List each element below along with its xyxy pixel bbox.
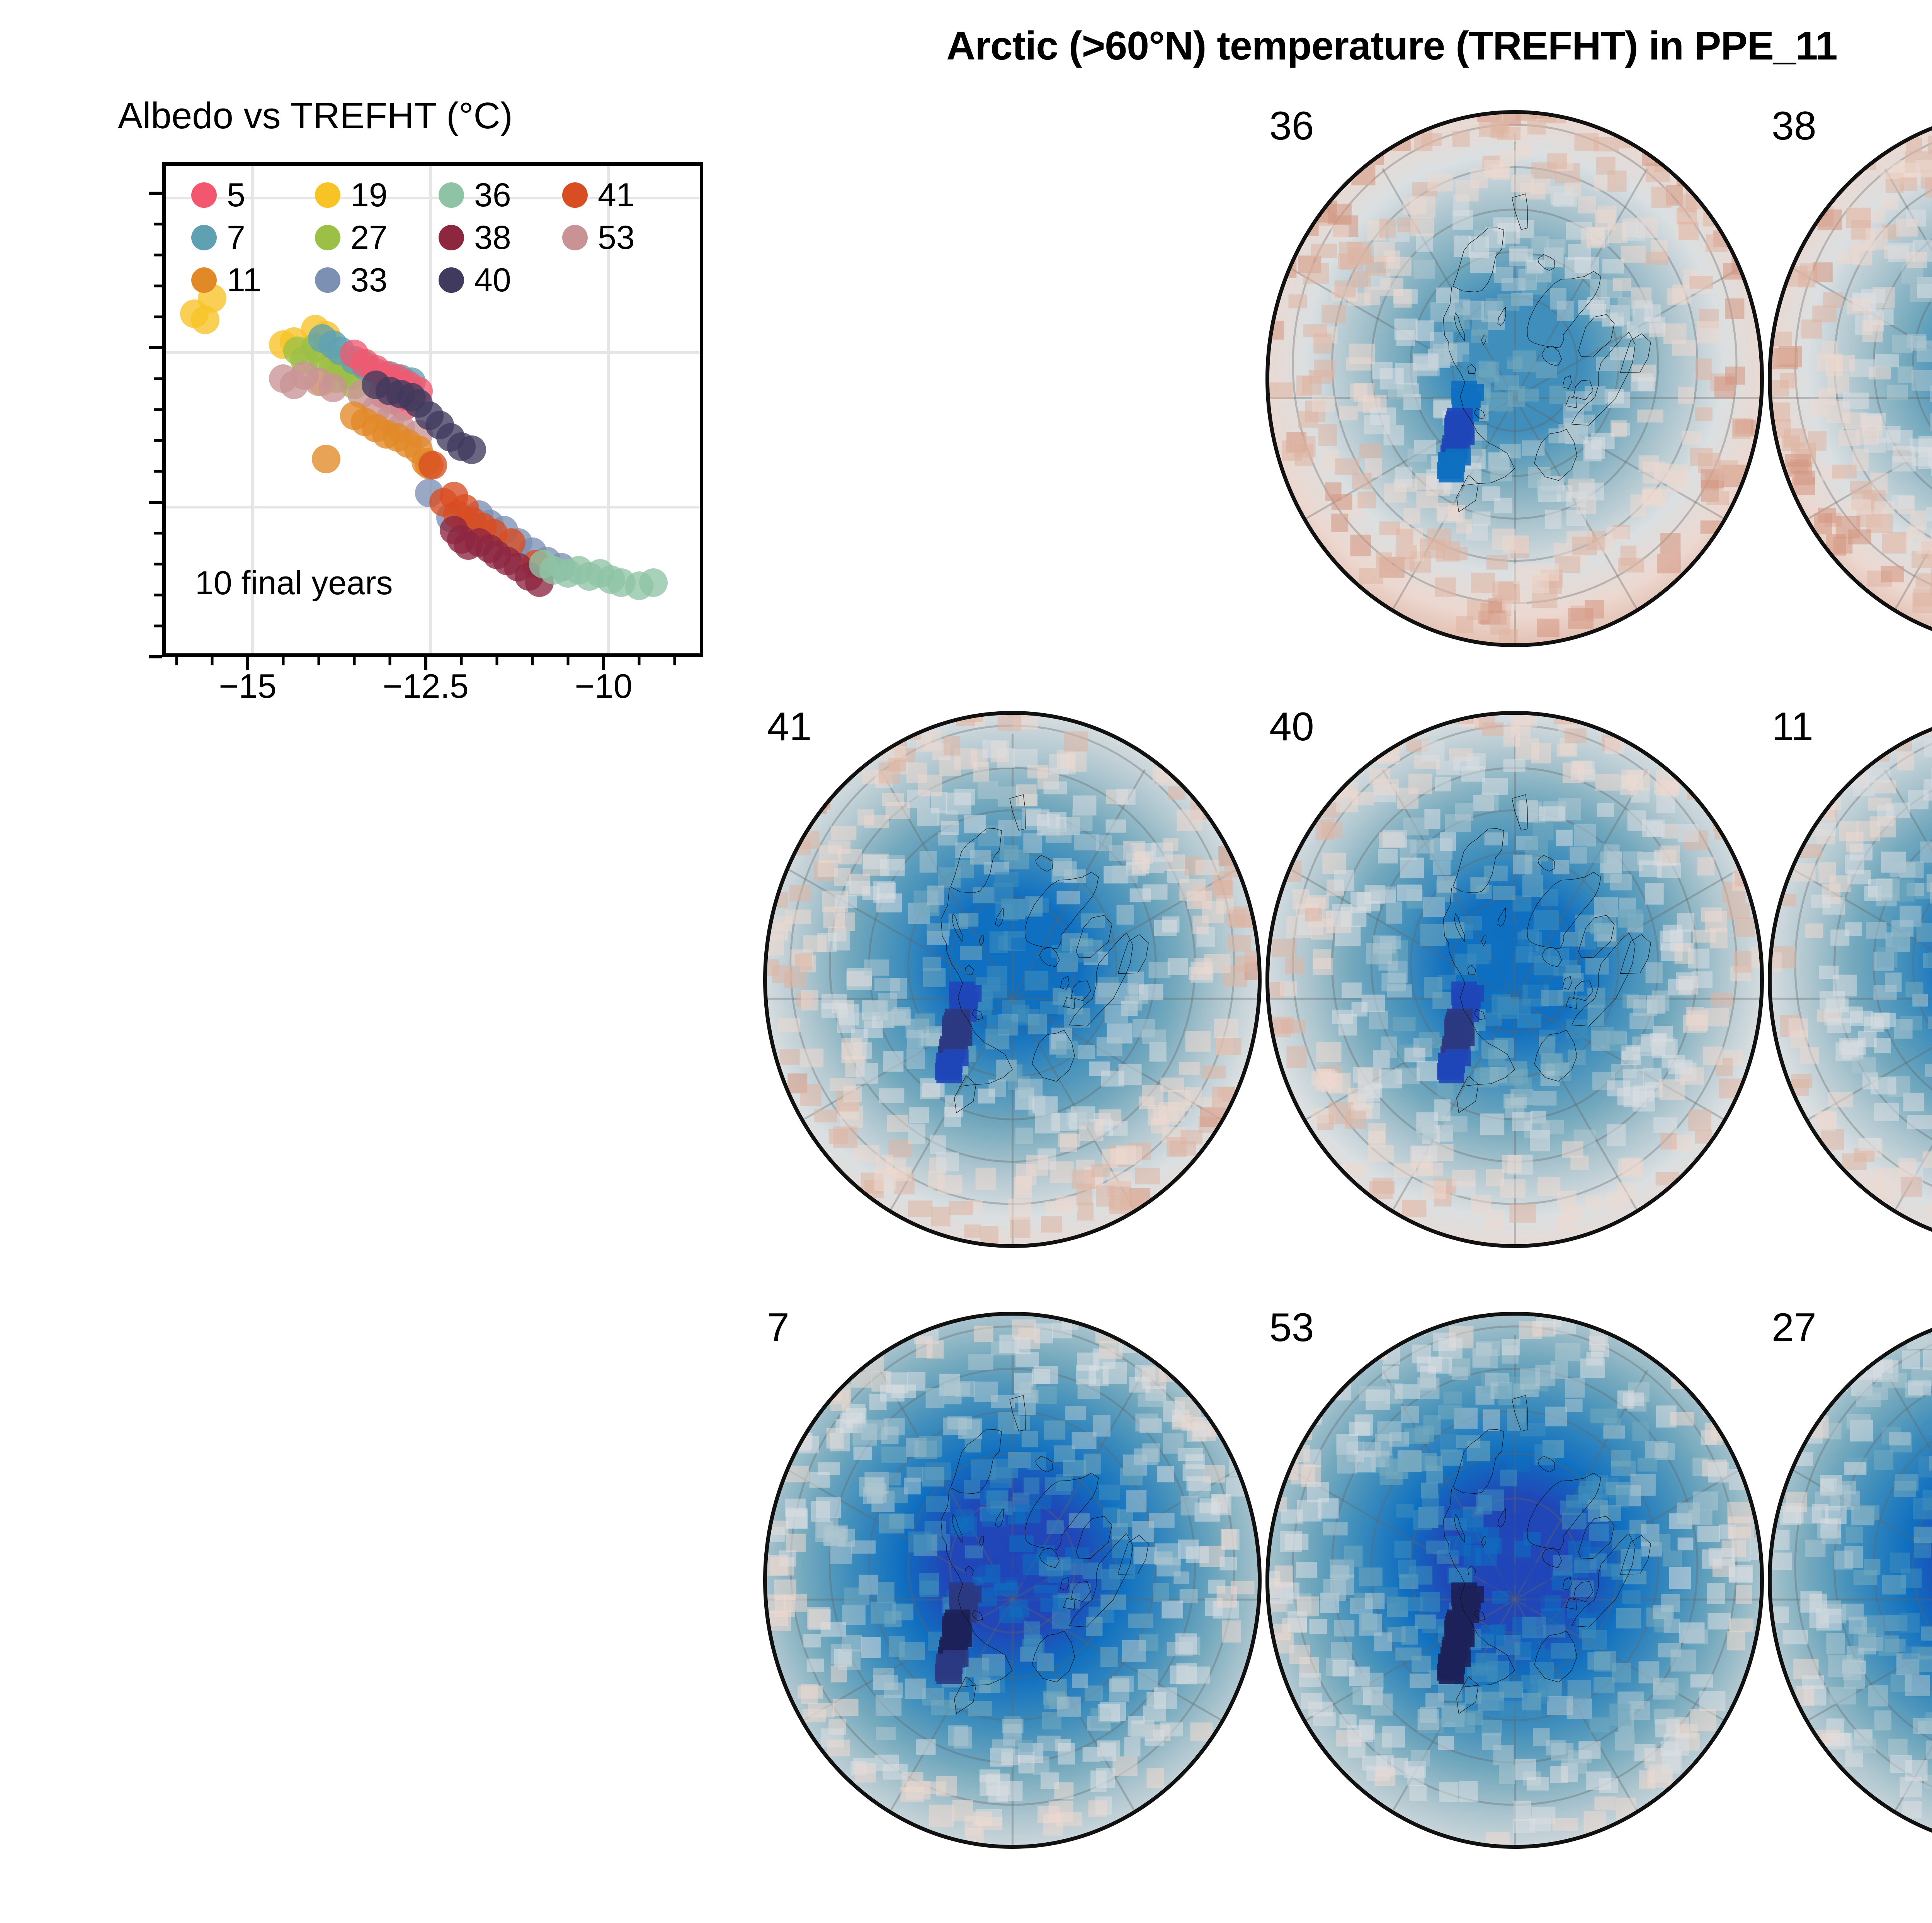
scatter-legend: 51936417273853113340	[191, 174, 686, 301]
legend-marker-icon	[191, 182, 217, 208]
legend-label: 27	[350, 221, 388, 254]
map-panel-label: 7	[767, 1305, 789, 1351]
coastlines	[767, 715, 1258, 1244]
figure-title: Arctic (>60°N) temperature (TREFHT) in P…	[0, 23, 1932, 69]
scatter-title: Albedo vs TREFHT (°C)	[118, 95, 697, 137]
coastlines	[1772, 114, 1932, 643]
coastlines	[1772, 1316, 1932, 1845]
map-panel-label: 36	[1269, 103, 1314, 149]
polar-map	[1768, 711, 1932, 1248]
x-tick-minor	[460, 657, 463, 665]
y-tick-mark	[149, 346, 162, 349]
polar-map	[1265, 110, 1764, 647]
legend-entry-53: 53	[562, 221, 686, 254]
map-panel-label: 40	[1269, 704, 1314, 750]
legend-label: 53	[598, 221, 635, 254]
map-panel-label: 41	[767, 704, 812, 750]
y-tick-minor	[154, 532, 162, 535]
map-panel-38[interactable]: 38	[1731, 95, 1932, 663]
y-tick-minor	[154, 470, 162, 473]
x-tick-minor	[567, 657, 570, 665]
x-tick-label: −10	[575, 667, 632, 706]
scatter-panel: Albedo vs TREFHT (°C) −15−12.5−100.60.55…	[37, 95, 701, 732]
y-tick-minor	[154, 316, 162, 318]
map-panel-label: 53	[1269, 1305, 1314, 1351]
legend-marker-icon	[439, 182, 464, 208]
legend-entry-36: 36	[439, 179, 562, 212]
scatter-point	[457, 435, 486, 464]
x-tick-minor	[211, 657, 213, 665]
coastlines	[1269, 1316, 1760, 1845]
legend-marker-icon	[439, 225, 464, 250]
x-tick-minor	[531, 657, 534, 665]
legend-entry-5: 5	[191, 179, 315, 212]
y-tick-minor	[154, 439, 162, 442]
map-panel-41[interactable]: 41	[726, 695, 1294, 1263]
polar-map	[1265, 1312, 1764, 1849]
gridline-horizontal	[166, 351, 700, 354]
legend-marker-icon	[315, 225, 340, 250]
x-tick-minor	[282, 657, 285, 665]
map-panel-7[interactable]: 7	[726, 1296, 1294, 1864]
polar-map	[763, 711, 1262, 1248]
x-tick-minor	[353, 657, 356, 665]
x-tick-minor	[318, 657, 320, 665]
x-tick-minor	[175, 657, 178, 665]
legend-label: 7	[227, 221, 245, 254]
polar-map	[1265, 711, 1764, 1248]
legend-entry-19: 19	[315, 179, 439, 212]
legend-entry-11: 11	[191, 264, 315, 297]
legend-marker-icon	[315, 182, 340, 208]
legend-marker-icon	[439, 267, 464, 293]
x-tick-minor	[673, 657, 676, 665]
legend-marker-icon	[191, 225, 217, 250]
y-tick-mark	[149, 192, 162, 195]
x-tick-label: −12.5	[383, 667, 469, 706]
legend-label: 11	[227, 264, 261, 297]
coastlines	[1772, 715, 1932, 1244]
y-tick-minor	[154, 625, 162, 627]
legend-label: 19	[350, 179, 388, 212]
polar-map	[763, 1312, 1262, 1849]
legend-label: 40	[474, 264, 511, 297]
coastlines	[767, 1316, 1258, 1845]
map-panel-36[interactable]: 36	[1229, 95, 1797, 663]
map-panel-label: 27	[1772, 1305, 1816, 1351]
legend-entry-41: 41	[562, 179, 686, 212]
y-tick-minor	[154, 285, 162, 287]
legend-entry-38: 38	[439, 221, 562, 254]
y-tick-mark	[149, 655, 162, 658]
scatter-point	[418, 451, 447, 479]
legend-label: 38	[474, 221, 511, 254]
y-tick-mark	[149, 501, 162, 504]
legend-entry-40: 40	[439, 264, 562, 297]
coastlines	[1269, 114, 1760, 643]
legend-entry-7: 7	[191, 221, 315, 254]
scatter-annotation: 10 final years	[195, 564, 393, 602]
legend-label: 5	[227, 179, 245, 212]
polar-map	[1768, 110, 1932, 647]
map-panel-label: 38	[1772, 103, 1816, 149]
x-tick-label: −15	[219, 667, 276, 706]
scatter-point	[319, 374, 347, 402]
x-tick-minor	[638, 657, 641, 665]
y-tick-minor	[154, 254, 162, 257]
polar-map	[1768, 1312, 1932, 1849]
y-tick-minor	[154, 594, 162, 597]
map-panel-27[interactable]: 27	[1731, 1296, 1932, 1864]
legend-label: 33	[350, 264, 388, 297]
map-panel-11[interactable]: 11	[1731, 695, 1932, 1263]
y-tick-minor	[154, 223, 162, 226]
legend-marker-icon	[562, 225, 588, 250]
figure-root: Arctic (>60°N) temperature (TREFHT) in P…	[0, 0, 1932, 1923]
scatter-point	[312, 445, 340, 473]
y-tick-minor	[154, 408, 162, 411]
map-panel-label: 11	[1772, 704, 1813, 750]
y-tick-minor	[154, 377, 162, 380]
legend-label: 36	[474, 179, 511, 212]
scatter-point	[639, 568, 668, 597]
legend-label: 41	[598, 179, 635, 212]
legend-marker-icon	[191, 267, 217, 293]
y-tick-minor	[154, 563, 162, 566]
legend-entry-27: 27	[315, 221, 439, 254]
legend-entry-33: 33	[315, 264, 439, 297]
coastlines	[1269, 715, 1760, 1244]
map-panel-40[interactable]: 40	[1229, 695, 1797, 1263]
x-tick-minor	[495, 657, 498, 665]
legend-marker-icon	[562, 182, 588, 208]
x-tick-minor	[389, 657, 391, 665]
legend-marker-icon	[315, 267, 340, 293]
map-panel-53[interactable]: 53	[1229, 1296, 1797, 1864]
